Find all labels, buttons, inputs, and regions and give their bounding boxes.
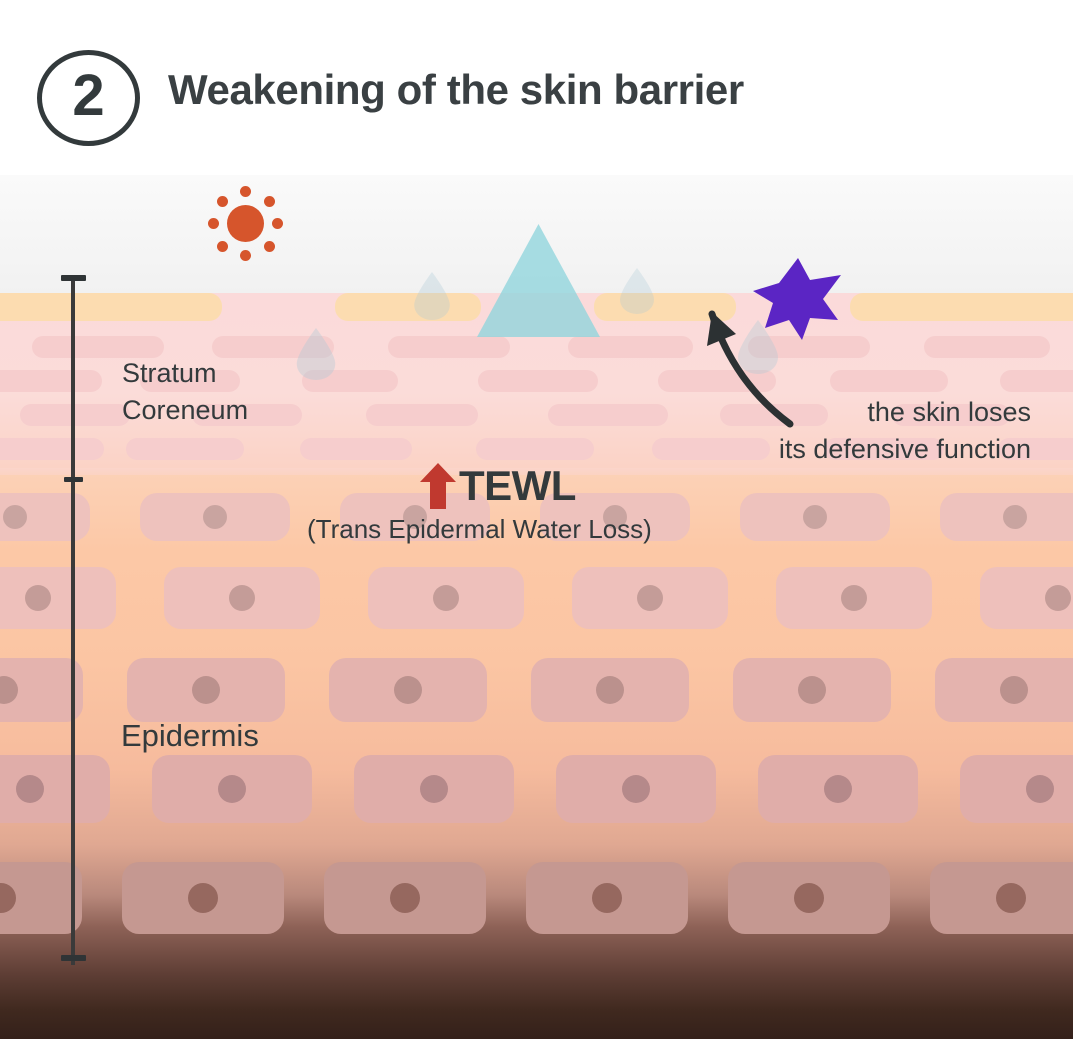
skin-barrier-infographic: Stratum Coreneum Epidermis TEWL (Trans E… xyxy=(0,0,1073,1039)
epidermis-cell xyxy=(728,862,890,934)
depth-ruler xyxy=(56,270,90,970)
epidermis-cell xyxy=(368,567,524,629)
defense-note-line2: its defensive function xyxy=(779,431,1031,468)
cell-nucleus xyxy=(433,585,459,611)
corneocyte-bar-yellow xyxy=(335,293,481,321)
cell-nucleus xyxy=(1000,676,1028,704)
cell-nucleus xyxy=(229,585,255,611)
corneocyte-bar-pink xyxy=(652,438,770,460)
tewl-expanded-text: (Trans Epidermal Water Loss) xyxy=(307,514,652,545)
stratum-corneum-label: Stratum Coreneum xyxy=(122,355,248,429)
epidermis-cell xyxy=(733,658,891,722)
tewl-title-row: TEWL xyxy=(307,462,652,510)
epidermis-cell xyxy=(354,755,514,823)
cell-nucleus xyxy=(1026,775,1054,803)
corneocyte-bar-pink xyxy=(366,404,478,426)
corneocyte-bar-pink xyxy=(1000,370,1073,392)
cell-nucleus xyxy=(394,676,422,704)
water-droplet-icon xyxy=(414,272,450,320)
epidermis-cell xyxy=(572,567,728,629)
corneocyte-bar-pink xyxy=(830,370,948,392)
epidermis-cell xyxy=(526,862,688,934)
sun-core xyxy=(227,205,264,242)
cell-nucleus xyxy=(16,775,44,803)
step-number-badge: 2 xyxy=(37,50,140,146)
sun-ray xyxy=(240,250,251,261)
epidermis-cell xyxy=(740,493,890,541)
corneocyte-bar-yellow xyxy=(0,293,222,321)
water-droplet-icon xyxy=(620,268,654,314)
sun-ray xyxy=(264,196,275,207)
cell-nucleus xyxy=(1045,585,1071,611)
triangle-icon xyxy=(477,224,600,337)
defense-note: the skin loses its defensive function xyxy=(779,394,1031,468)
epidermis-cell xyxy=(122,862,284,934)
epidermis-cell xyxy=(152,755,312,823)
sun-icon xyxy=(208,186,283,261)
ruler-tick-top xyxy=(61,275,86,281)
corneocyte-bar-pink xyxy=(300,438,412,460)
sun-ray xyxy=(240,186,251,197)
corneocyte-bar-pink xyxy=(126,438,244,460)
stratum-corneum-label-line1: Stratum xyxy=(122,355,248,392)
cell-nucleus xyxy=(0,883,16,913)
epidermis-cell xyxy=(758,755,918,823)
corneocyte-bar-pink xyxy=(924,336,1050,358)
corneocyte-bar-pink xyxy=(568,336,693,358)
red-up-arrow-icon xyxy=(420,463,456,509)
defense-note-line1: the skin loses xyxy=(779,394,1031,431)
stratum-corneum-label-line2: Coreneum xyxy=(122,392,248,429)
epidermis-cell xyxy=(935,658,1073,722)
cell-nucleus xyxy=(592,883,622,913)
epidermis-cell xyxy=(140,493,290,541)
cell-nucleus xyxy=(420,775,448,803)
cell-nucleus xyxy=(841,585,867,611)
cell-nucleus xyxy=(1003,505,1027,529)
cell-nucleus xyxy=(3,505,27,529)
cell-nucleus xyxy=(188,883,218,913)
epidermis-cell xyxy=(776,567,932,629)
epidermis-cell xyxy=(531,658,689,722)
corneocyte-bar-pink xyxy=(388,336,510,358)
corneocyte-bar-pink xyxy=(478,370,598,392)
tewl-abbreviation: TEWL xyxy=(459,465,576,507)
tewl-callout: TEWL (Trans Epidermal Water Loss) xyxy=(307,462,652,545)
epidermis-cell xyxy=(127,658,285,722)
ruler-tick-bottom xyxy=(61,955,86,961)
sun-ray xyxy=(217,196,228,207)
epidermis-cell xyxy=(329,658,487,722)
cell-nucleus xyxy=(622,775,650,803)
water-droplet-icon xyxy=(296,328,336,380)
cell-nucleus xyxy=(637,585,663,611)
epidermis-cell xyxy=(324,862,486,934)
sun-ray xyxy=(208,218,219,229)
cell-nucleus xyxy=(0,676,18,704)
cell-nucleus xyxy=(794,883,824,913)
header: 2 Weakening of the skin barrier xyxy=(0,0,1073,175)
sun-ray xyxy=(272,218,283,229)
page-title: Weakening of the skin barrier xyxy=(168,66,744,114)
cell-nucleus xyxy=(798,676,826,704)
corneocyte-bar-pink xyxy=(476,438,594,460)
epidermis-cell xyxy=(164,567,320,629)
cell-nucleus xyxy=(390,883,420,913)
cell-nucleus xyxy=(596,676,624,704)
sun-ray xyxy=(264,241,275,252)
epidermis-cell xyxy=(930,862,1073,934)
epidermis-cell xyxy=(960,755,1073,823)
corneocyte-bar-pink xyxy=(548,404,668,426)
ruler-tick-middle xyxy=(64,477,83,482)
epidermis-cell xyxy=(940,493,1073,541)
cell-nucleus xyxy=(996,883,1026,913)
corneocyte-bar-yellow xyxy=(850,293,1073,321)
cell-nucleus xyxy=(192,676,220,704)
epidermis-cell xyxy=(980,567,1073,629)
cell-nucleus xyxy=(803,505,827,529)
epidermis-cell xyxy=(556,755,716,823)
cell-nucleus xyxy=(25,585,51,611)
cell-nucleus xyxy=(824,775,852,803)
cell-nucleus xyxy=(218,775,246,803)
sun-ray xyxy=(217,241,228,252)
ruler-stem xyxy=(71,277,75,965)
epidermis-cell xyxy=(0,755,110,823)
epidermis-label: Epidermis xyxy=(121,718,259,754)
cell-nucleus xyxy=(203,505,227,529)
